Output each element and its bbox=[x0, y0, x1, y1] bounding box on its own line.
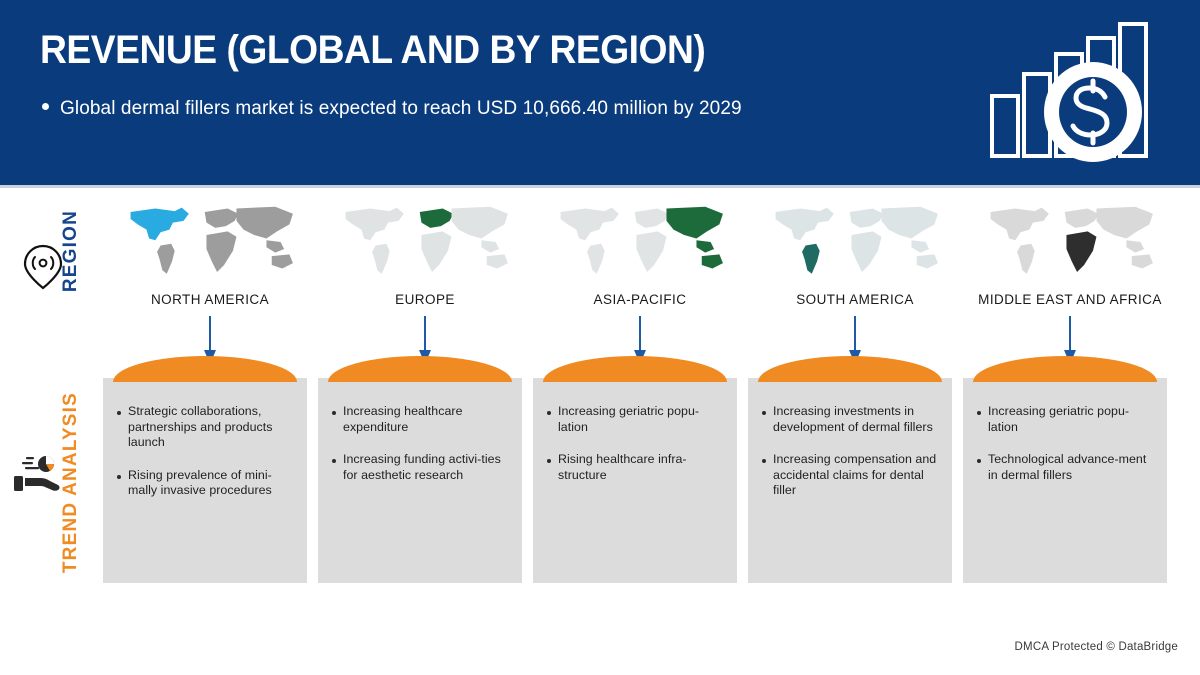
world-map-middle-east-africa-highlight-icon bbox=[980, 198, 1160, 286]
bullet-dot-icon bbox=[117, 411, 121, 415]
trend-bullet-text: Rising healthcare infra-structure bbox=[558, 452, 723, 483]
trend-analysis-axis-label: TREND ANALYSIS bbox=[60, 392, 82, 573]
trend-bullet-text: Increasing geriatric popu-lation bbox=[558, 404, 723, 435]
trend-bullet-list: Increasing geriatric popu-lationTechnolo… bbox=[977, 404, 1153, 500]
world-map-north-america-highlight-icon bbox=[120, 198, 300, 286]
list-item: Increasing geriatric popu-lation bbox=[547, 404, 723, 435]
world-map-asia-pacific-highlight-icon bbox=[550, 198, 730, 286]
region-column: SOUTH AMERICAIncreasing investments in d… bbox=[748, 198, 962, 307]
page-title: REVENUE (GLOBAL AND BY REGION) bbox=[40, 28, 705, 73]
bullet-dot-icon bbox=[547, 459, 551, 463]
trend-bullet-text: Increasing funding activi-ties for aesth… bbox=[343, 452, 508, 483]
footer-credit: DMCA Protected © DataBridge bbox=[1015, 641, 1178, 653]
region-name-label: NORTH AMERICA bbox=[103, 292, 317, 307]
bullet-dot-icon bbox=[332, 459, 336, 463]
header-divider bbox=[0, 185, 1200, 188]
panel-arch-cap bbox=[973, 356, 1157, 382]
bullet-dot-icon bbox=[977, 411, 981, 415]
list-item: Increasing geriatric popu-lation bbox=[977, 404, 1153, 435]
trend-bullet-list: Strategic collaborations, partnerships a… bbox=[117, 404, 293, 516]
region-name-label: EUROPE bbox=[318, 292, 532, 307]
world-map-south-america-highlight-icon bbox=[765, 198, 945, 286]
region-column: EUROPEIncreasing healthcare expenditureI… bbox=[318, 198, 532, 307]
header-banner: REVENUE (GLOBAL AND BY REGION) Global de… bbox=[0, 0, 1200, 185]
trend-bullet-text: Rising prevalence of mini-mally invasive… bbox=[128, 468, 293, 499]
header-subtitle-row: Global dermal fillers market is expected… bbox=[42, 98, 742, 120]
trend-bullet-list: Increasing geriatric popu-lationRising h… bbox=[547, 404, 723, 500]
region-axis-label: REGION bbox=[60, 210, 82, 292]
list-item: Increasing compensation and accidental c… bbox=[762, 452, 938, 499]
region-name-label: MIDDLE EAST AND AFRICA bbox=[963, 292, 1177, 307]
bullet-dot-icon bbox=[762, 411, 766, 415]
trend-bullet-text: Increasing investments in development of… bbox=[773, 404, 938, 435]
trend-bullet-text: Increasing healthcare expenditure bbox=[343, 404, 508, 435]
trend-panel: Increasing geriatric popu-lationRising h… bbox=[533, 378, 737, 583]
bullet-dot-icon bbox=[977, 459, 981, 463]
list-item: Increasing funding activi-ties for aesth… bbox=[332, 452, 508, 483]
bullet-dot-icon bbox=[547, 411, 551, 415]
list-item: Rising prevalence of mini-mally invasive… bbox=[117, 468, 293, 499]
trend-bullet-text: Increasing geriatric popu-lation bbox=[988, 404, 1153, 435]
region-name-label: ASIA-PACIFIC bbox=[533, 292, 747, 307]
trend-bullet-text: Technological advance-ment in dermal fil… bbox=[988, 452, 1153, 483]
infographic-page: REVENUE (GLOBAL AND BY REGION) Global de… bbox=[0, 0, 1200, 675]
panel-arch-cap bbox=[758, 356, 942, 382]
panel-arch-cap bbox=[113, 356, 297, 382]
header-subtitle: Global dermal fillers market is expected… bbox=[60, 98, 742, 120]
trend-bullet-text: Strategic collaborations, partnerships a… bbox=[128, 404, 293, 451]
bullet-dot-icon bbox=[762, 459, 766, 463]
panel-arch-cap bbox=[328, 356, 512, 382]
bullet-dot-icon bbox=[42, 103, 49, 110]
trend-panel: Increasing healthcare expenditureIncreas… bbox=[318, 378, 522, 583]
list-item: Increasing healthcare expenditure bbox=[332, 404, 508, 435]
list-item: Strategic collaborations, partnerships a… bbox=[117, 404, 293, 451]
list-item: Increasing investments in development of… bbox=[762, 404, 938, 435]
region-column: NORTH AMERICAStrategic collaborations, p… bbox=[103, 198, 317, 307]
world-map-europe-highlight-icon bbox=[335, 198, 515, 286]
bullet-dot-icon bbox=[117, 475, 121, 479]
region-column: MIDDLE EAST AND AFRICAIncreasing geriatr… bbox=[963, 198, 1177, 307]
dollar-coin-bar-chart-icon bbox=[982, 18, 1162, 168]
region-name-label: SOUTH AMERICA bbox=[748, 292, 962, 307]
bullet-dot-icon bbox=[332, 411, 336, 415]
trend-panel: Increasing investments in development of… bbox=[748, 378, 952, 583]
region-column: ASIA-PACIFICIncreasing geriatric popu-la… bbox=[533, 198, 747, 307]
list-item: Rising healthcare infra-structure bbox=[547, 452, 723, 483]
list-item: Technological advance-ment in dermal fil… bbox=[977, 452, 1153, 483]
trend-panel: Increasing geriatric popu-lationTechnolo… bbox=[963, 378, 1167, 583]
trend-bullet-text: Increasing compensation and accidental c… bbox=[773, 452, 938, 499]
trend-bullet-list: Increasing healthcare expenditureIncreas… bbox=[332, 404, 508, 500]
trend-panel: Strategic collaborations, partnerships a… bbox=[103, 378, 307, 583]
trend-bullet-list: Increasing investments in development of… bbox=[762, 404, 938, 516]
panel-arch-cap bbox=[543, 356, 727, 382]
